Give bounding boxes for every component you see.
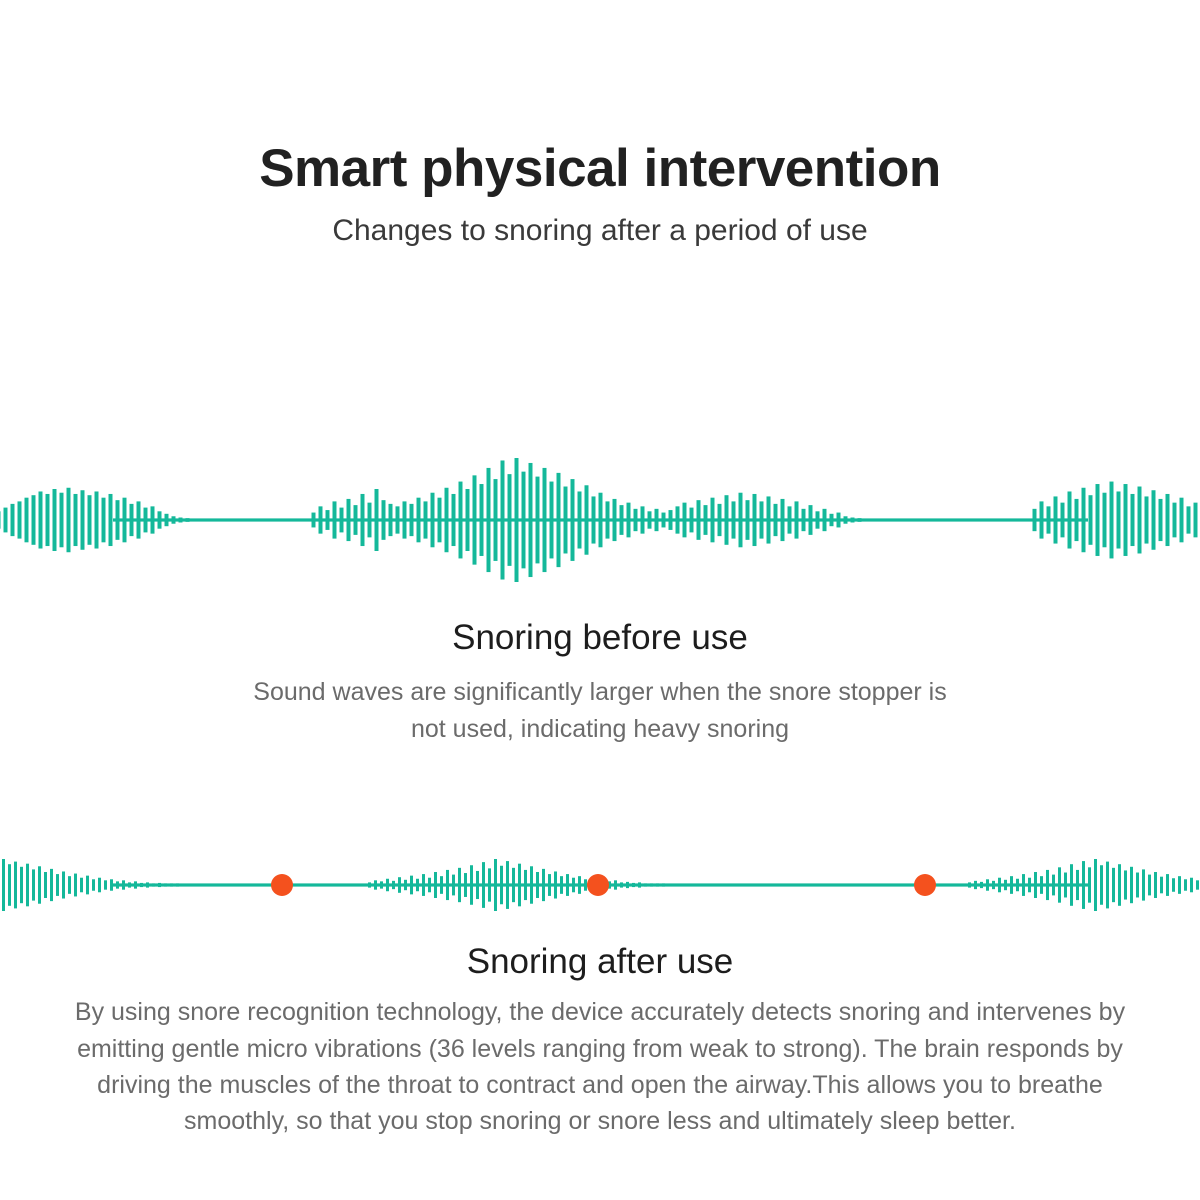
- waveform-bar: [1166, 874, 1169, 896]
- waveform-bar: [548, 874, 551, 896]
- waveform-bar: [1166, 494, 1170, 546]
- waveform-bar: [140, 883, 143, 887]
- waveform-bar: [374, 880, 377, 889]
- waveform-bar: [613, 499, 617, 541]
- waveform-bar: [550, 482, 554, 559]
- waveform-bar: [1054, 496, 1058, 543]
- caption-after-heading: Snoring after use: [0, 942, 1200, 982]
- waveform-bar: [980, 882, 983, 888]
- waveform-bar: [683, 503, 687, 538]
- waveform-bar: [858, 518, 862, 522]
- waveform-bar: [1010, 876, 1013, 894]
- waveform-bar: [1033, 509, 1037, 531]
- waveform-bar: [1160, 877, 1163, 894]
- waveform-bar: [508, 474, 512, 566]
- waveform-bar: [1194, 503, 1198, 538]
- waveform-bar: [536, 477, 540, 564]
- waveform-bar: [557, 473, 561, 567]
- waveform-bar: [158, 883, 161, 887]
- waveform-bar: [81, 490, 85, 550]
- waveform-bar: [410, 876, 413, 895]
- waveform-bar: [347, 499, 351, 541]
- waveform-bar: [627, 503, 631, 538]
- waveform-bar: [781, 499, 785, 541]
- waveform-bar: [1106, 862, 1109, 909]
- waveform-bar: [1028, 878, 1031, 893]
- waveform-bar: [992, 881, 995, 889]
- waveform-bar: [53, 489, 57, 551]
- waveform-bar: [1088, 867, 1091, 902]
- waveform-bar: [732, 501, 736, 538]
- waveform-bar: [571, 479, 575, 561]
- waveform-bar: [1152, 490, 1156, 550]
- waveform-bar: [518, 864, 521, 907]
- waveform-bar: [774, 504, 778, 536]
- waveform-bar: [998, 878, 1001, 893]
- waveform-bar: [389, 504, 393, 536]
- waveform-bar: [1180, 498, 1184, 543]
- waveform-bar: [464, 873, 467, 897]
- waveform-bar: [1047, 506, 1051, 533]
- waveform-bar: [1184, 879, 1187, 890]
- waveform-before-use-svg: [0, 440, 1200, 600]
- waveform-bar: [626, 882, 629, 888]
- waveform-bar: [95, 491, 99, 548]
- waveform-bar: [116, 881, 119, 888]
- waveform-bar: [18, 501, 22, 538]
- detection-marker-2: [587, 874, 609, 896]
- waveform-bar: [554, 871, 557, 898]
- waveform-bar: [340, 508, 344, 533]
- waveform-bar: [1130, 867, 1133, 903]
- waveform-bar: [1124, 484, 1128, 556]
- waveform-bar: [655, 509, 659, 531]
- caption-after-use: Snoring after use By using snore recogni…: [0, 942, 1200, 1139]
- waveform-bar: [739, 493, 743, 548]
- waveform-bar: [844, 516, 848, 523]
- waveform-bar: [487, 468, 491, 572]
- waveform-bar: [128, 882, 131, 887]
- waveform-bar: [851, 518, 855, 523]
- waveform-bar: [564, 487, 568, 554]
- waveform-bar: [1159, 499, 1163, 541]
- waveform-bar: [1173, 503, 1177, 538]
- waveform-bar: [1046, 870, 1049, 900]
- waveform-bar: [375, 489, 379, 551]
- waveform-bar: [123, 498, 127, 543]
- waveform-bar: [1138, 487, 1142, 554]
- waveform-bar: [319, 506, 323, 533]
- waveform-bar: [1096, 484, 1100, 556]
- waveform-bar: [404, 880, 407, 890]
- waveform-bar: [1103, 493, 1107, 548]
- waveform-bar: [592, 496, 596, 543]
- waveform-bar: [1004, 880, 1007, 890]
- waveform-bar: [802, 509, 806, 531]
- waveform-bar: [165, 514, 169, 526]
- waveform-bar: [146, 882, 149, 887]
- waveform-bar: [1034, 872, 1037, 898]
- waveform-bar: [718, 504, 722, 536]
- waveform-bar: [382, 500, 386, 540]
- waveform-bar: [1016, 879, 1019, 891]
- waveform-bar: [164, 883, 167, 886]
- waveform-bar: [746, 500, 750, 540]
- waveform-bar: [482, 862, 485, 908]
- waveform-bar: [543, 468, 547, 572]
- waveform-bar: [753, 494, 757, 546]
- waveform-bar: [634, 509, 638, 531]
- header: Smart physical intervention Changes to s…: [0, 140, 1200, 249]
- waveform-bar: [662, 883, 665, 886]
- waveform-bar: [424, 501, 428, 538]
- waveform-bar: [522, 472, 526, 569]
- caption-before-heading: Snoring before use: [0, 618, 1200, 658]
- waveform-bar: [396, 506, 400, 533]
- waveform-bar: [512, 868, 515, 902]
- waveform-bar: [1089, 495, 1093, 545]
- waveform-bar: [1094, 859, 1097, 911]
- waveform-bar: [968, 882, 971, 887]
- waveform-bar: [470, 865, 473, 905]
- waveform-bar: [186, 518, 190, 522]
- waveform-bar: [38, 866, 41, 903]
- waveform-bar: [403, 501, 407, 538]
- waveform-bar: [536, 872, 539, 898]
- waveform-bar: [690, 508, 694, 533]
- waveform-bar: [1070, 864, 1073, 906]
- waveform-bar: [46, 494, 50, 546]
- waveform-bar: [500, 866, 503, 904]
- detection-marker-3: [914, 874, 936, 896]
- waveform-bar: [614, 880, 617, 889]
- waveform-bar: [158, 511, 162, 528]
- waveform-bar: [109, 494, 113, 546]
- waveform-bar: [830, 514, 834, 526]
- waveform-bar: [1064, 873, 1067, 898]
- waveform-bar: [104, 880, 107, 889]
- waveform-bar: [1172, 878, 1175, 892]
- waveform-bar: [1124, 870, 1127, 899]
- waveform-bar: [1061, 503, 1065, 538]
- waveform-bar: [795, 501, 799, 538]
- waveform-bar: [632, 883, 635, 887]
- waveform-bar: [578, 491, 582, 548]
- waveform-bar: [11, 504, 15, 536]
- waveform-bar: [494, 859, 497, 911]
- waveform-bar: [74, 494, 78, 546]
- waveform-bar: [434, 872, 437, 898]
- waveform-bar: [368, 882, 371, 887]
- waveform-bar: [697, 500, 701, 540]
- waveform-bar: [641, 506, 645, 533]
- waveform-bar: [644, 883, 647, 886]
- waveform-bar: [446, 870, 449, 900]
- waveform-bar: [380, 881, 383, 888]
- waveform-bar: [656, 883, 659, 886]
- waveform-bar: [74, 874, 77, 897]
- waveform-bar: [494, 479, 498, 561]
- waveform-bar: [176, 883, 179, 886]
- waveform-before-use: [0, 440, 1200, 600]
- waveform-bar: [662, 513, 666, 528]
- waveform-bar: [32, 869, 35, 900]
- waveform-bar: [116, 500, 120, 540]
- waveform-bar: [50, 869, 53, 901]
- waveform-bar: [62, 871, 65, 898]
- waveform-bar: [152, 883, 155, 886]
- waveform-bar: [974, 881, 977, 889]
- waveform-bar: [422, 874, 425, 896]
- waveform-bar: [524, 870, 527, 900]
- page-title: Smart physical intervention: [0, 140, 1200, 197]
- waveform-bar: [1058, 867, 1061, 902]
- waveform-bar: [986, 879, 989, 890]
- waveform-bar: [326, 510, 330, 530]
- waveform-bar: [760, 501, 764, 538]
- waveform-bar: [725, 495, 729, 545]
- waveform-bar: [333, 501, 337, 538]
- waveform-bar: [428, 878, 431, 893]
- waveform-bar: [14, 862, 17, 909]
- waveform-bar: [312, 513, 316, 528]
- waveform-bar: [809, 505, 813, 535]
- waveform-bar: [501, 460, 505, 579]
- waveform-bar: [676, 506, 680, 533]
- waveform-after-use-svg: [0, 845, 1200, 925]
- waveform-bar: [440, 876, 443, 894]
- waveform-bar: [466, 489, 470, 551]
- waveform-bar: [67, 488, 71, 552]
- waveform-bar: [837, 513, 841, 528]
- waveform-bar: [488, 868, 491, 901]
- waveform-bar: [368, 503, 372, 538]
- waveform-bar: [823, 509, 827, 531]
- waveform-bar: [648, 511, 652, 528]
- waveform-bar: [1110, 482, 1114, 559]
- waveform-bar: [151, 506, 155, 533]
- waveform-bar: [480, 484, 484, 556]
- waveform-bar: [1040, 501, 1044, 538]
- waveform-bar: [130, 504, 134, 536]
- waveform-bar: [2, 859, 5, 911]
- waveform-bar: [44, 872, 47, 898]
- waveform-bar: [25, 498, 29, 543]
- waveform-bar: [506, 861, 509, 909]
- waveform-bar: [606, 501, 610, 538]
- waveform-bar: [1040, 876, 1043, 894]
- waveform-bar: [599, 493, 603, 548]
- waveform-bar: [452, 875, 455, 896]
- waveform-bar: [704, 505, 708, 535]
- waveform-bar: [56, 874, 59, 896]
- waveform-bar: [1118, 864, 1121, 906]
- waveform-bar: [620, 882, 623, 887]
- waveform-bar: [650, 883, 653, 886]
- waveform-bar: [102, 498, 106, 543]
- waveform-bar: [20, 867, 23, 903]
- waveform-bar: [172, 516, 176, 523]
- waveform-bar: [386, 879, 389, 891]
- waveform-bar: [459, 482, 463, 559]
- waveform-bar: [4, 508, 8, 533]
- waveform-bar: [1131, 494, 1135, 546]
- waveform-bar: [134, 881, 137, 888]
- waveform-bar: [1154, 872, 1157, 898]
- waveform-bar: [88, 495, 92, 545]
- waveform-bar: [354, 505, 358, 535]
- waveform-bar: [1148, 875, 1151, 896]
- waveform-bar: [767, 496, 771, 543]
- waveform-bar: [711, 498, 715, 543]
- waveform-bar: [1136, 873, 1139, 898]
- waveform-bar: [26, 864, 29, 907]
- waveform-bar: [1117, 491, 1121, 548]
- waveform-bar: [1196, 880, 1199, 889]
- waveform-bar: [137, 501, 141, 538]
- waveform-bar: [1145, 496, 1149, 543]
- waveform-bar: [179, 518, 183, 523]
- waveform-bar: [398, 877, 401, 893]
- waveform-bar: [1076, 870, 1079, 900]
- caption-after-body: By using snore recognition technology, t…: [65, 994, 1135, 1139]
- waveform-bar: [515, 458, 519, 582]
- waveform-bar: [144, 508, 148, 533]
- waveform-bar: [92, 879, 95, 890]
- waveform-bar: [416, 879, 419, 891]
- waveform-bar: [110, 879, 113, 890]
- waveform-after-use: [0, 845, 1200, 925]
- waveform-bar: [560, 876, 563, 894]
- waveform-bar: [417, 498, 421, 543]
- waveform-bar: [452, 494, 456, 546]
- caption-before-use: Snoring before use Sound waves are signi…: [0, 618, 1200, 747]
- waveform-bar: [458, 868, 461, 902]
- waveform-bar: [170, 883, 173, 886]
- waveform-bar: [572, 878, 575, 893]
- waveform-bar: [638, 882, 641, 887]
- waveform-bar: [0, 511, 1, 528]
- waveform-bar: [1052, 875, 1055, 896]
- waveform-bar: [816, 511, 820, 528]
- waveform-bar: [669, 510, 673, 530]
- waveform-bar: [566, 874, 569, 896]
- waveform-bar: [60, 493, 64, 548]
- waveform-bar: [584, 879, 587, 890]
- waveform-bar: [530, 866, 533, 903]
- waveform-bar: [431, 493, 435, 548]
- waveform-bar: [32, 495, 36, 545]
- waveform-bar: [1112, 868, 1115, 902]
- waveform-bar: [98, 878, 101, 893]
- waveform-bar: [1068, 491, 1072, 548]
- waveform-bar: [445, 488, 449, 552]
- page-subtitle: Changes to snoring after a period of use: [0, 213, 1200, 249]
- waveform-bar: [620, 505, 624, 535]
- waveform-bar: [1142, 869, 1145, 900]
- waveform-bar: [1187, 506, 1191, 533]
- waveform-bar: [476, 871, 479, 899]
- waveform-bar: [473, 475, 477, 564]
- waveform-bar: [1190, 878, 1193, 893]
- waveform-bar: [122, 880, 125, 889]
- waveform-bar: [86, 876, 89, 895]
- waveform-bar: [1022, 874, 1025, 896]
- detection-marker-1: [271, 874, 293, 896]
- caption-before-body: Sound waves are significantly larger whe…: [250, 674, 950, 747]
- waveform-bar: [410, 504, 414, 536]
- waveform-bar: [578, 876, 581, 894]
- waveform-bar: [1075, 499, 1079, 541]
- waveform-bar: [68, 876, 71, 894]
- waveform-bar: [80, 878, 83, 893]
- waveform-bar: [1100, 865, 1103, 905]
- page-root: Smart physical intervention Changes to s…: [0, 0, 1200, 1200]
- waveform-bar: [438, 498, 442, 543]
- waveform-bar: [39, 491, 43, 548]
- waveform-bar: [1178, 876, 1181, 894]
- waveform-bar: [1082, 861, 1085, 909]
- waveform-bar: [529, 463, 533, 577]
- waveform-bar: [361, 494, 365, 546]
- waveform-bar: [392, 881, 395, 889]
- waveform-bar: [788, 506, 792, 533]
- waveform-bar: [542, 869, 545, 901]
- waveform-bar: [1082, 488, 1086, 552]
- waveform-bar: [8, 864, 11, 906]
- waveform-bar: [585, 485, 589, 554]
